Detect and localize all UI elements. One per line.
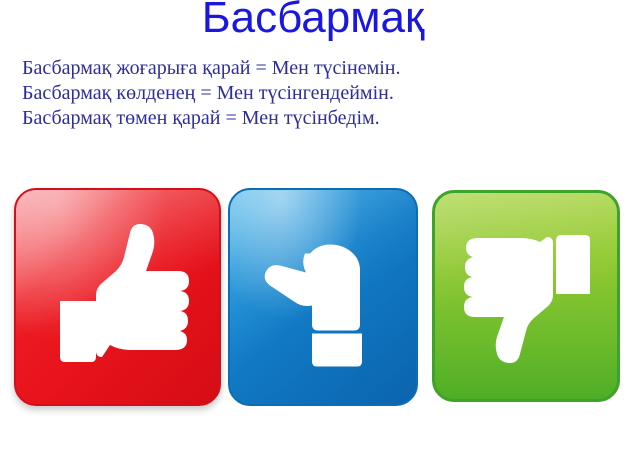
thumbs-down-icon	[451, 221, 601, 371]
thumbs-sideways-icon-tile	[228, 188, 418, 406]
thumbs-sideways-icon	[248, 220, 398, 375]
body-line-thumb-down: Басбармақ төмен қарай = Мен түсінбедім.	[22, 106, 582, 131]
body-text-block: Басбармақ жоғарыға қарай = Мен түсінемін…	[22, 56, 582, 131]
thumbs-up-icon-tile	[14, 188, 221, 406]
thumbs-up-icon	[38, 217, 198, 377]
body-line-thumb-sideways: Басбармақ көлденең = Мен түсінгендеймін.	[22, 81, 582, 106]
slide-canvas: Басбармақ Басбармақ жоғарыға қарай = Мен…	[0, 0, 626, 470]
page-title: Басбармақ	[0, 0, 626, 44]
icon-row	[0, 186, 626, 411]
thumbs-down-icon-tile	[432, 190, 620, 402]
body-line-thumb-up: Басбармақ жоғарыға қарай = Мен түсінемін…	[22, 56, 582, 81]
